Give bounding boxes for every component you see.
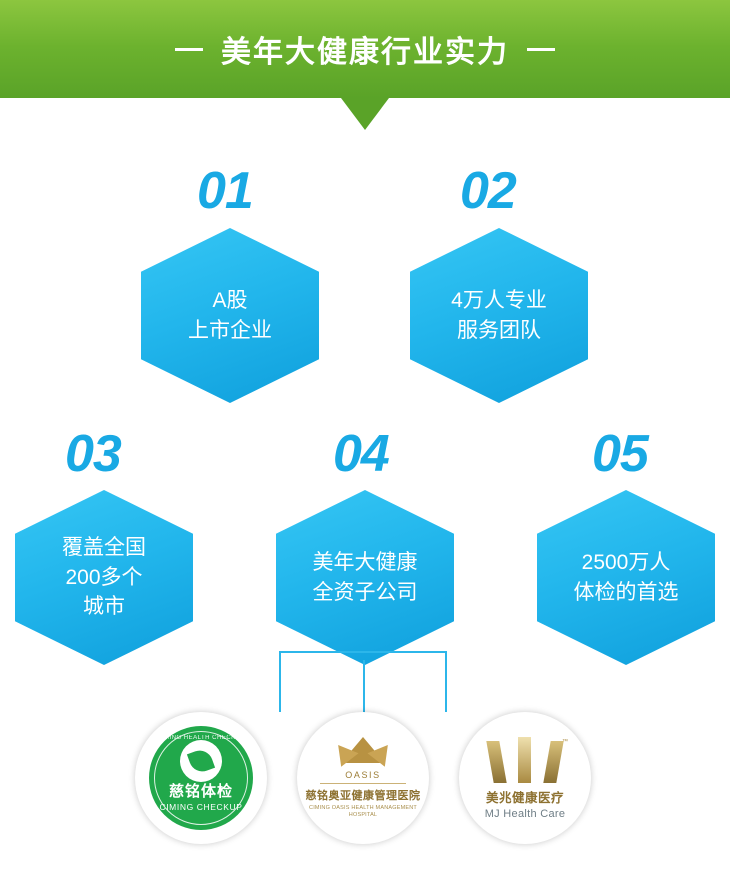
hex-card-02-text: 4万人专业 服务团队 (445, 286, 553, 346)
page-title: 美年大健康行业实力 (221, 27, 509, 71)
hex-card-02-line2: 服务团队 (451, 316, 547, 346)
connector-center-vertical (363, 660, 365, 716)
logo-mj-health-care[interactable]: ™ 美兆健康医疗 MJ Health Care (459, 712, 591, 844)
hex-card-04-line2: 全资子公司 (313, 578, 418, 608)
hex-card-03-text: 覆盖全国 200多个 城市 (56, 533, 152, 622)
hex-number-01: 01 (197, 165, 253, 217)
hex-number-03: 03 (65, 428, 121, 480)
logo-ciming-checkup[interactable]: CIMING HEALTH CHECKUP 慈铭体检 CIMING CHECKU… (135, 712, 267, 844)
hex-number-04: 04 (333, 428, 389, 480)
hex-card-04[interactable]: 美年大健康 全资子公司 (276, 490, 454, 665)
leaf-shape-icon (187, 747, 215, 775)
logo-ciming-oasis[interactable]: OASIS 慈铭奥亚健康管理医院 CIMING OASIS HEALTH MAN… (297, 712, 429, 844)
hex-card-05-text: 2500万人 体检的首选 (568, 548, 685, 608)
header-right-dash (527, 48, 555, 51)
hex-card-01-line2: 上市企业 (188, 316, 272, 346)
connector-horizontal (279, 651, 447, 653)
mj-trademark: ™ (562, 739, 568, 745)
logo-oasis-inner: OASIS 慈铭奥亚健康管理医院 CIMING OASIS HEALTH MAN… (297, 712, 429, 844)
ciming-en-name: CIMING CHECKUP (159, 802, 242, 812)
connector-left-vertical (279, 652, 281, 712)
ciming-cn-name: 慈铭体检 (169, 784, 233, 801)
hex-card-01-line1: A股 (188, 286, 272, 316)
mj-monogram-icon: ™ (488, 737, 562, 783)
mj-en-name: MJ Health Care (485, 808, 566, 820)
hex-card-02-line1: 4万人专业 (451, 286, 547, 316)
hex-card-04-line1: 美年大健康 (313, 548, 418, 578)
header-banner: 美年大健康行业实力 (0, 0, 730, 98)
hex-card-03-line3: 城市 (62, 592, 146, 622)
header-arrow-icon (341, 98, 389, 130)
mj-cn-name: 美兆健康医疗 (486, 787, 564, 806)
hex-card-05[interactable]: 2500万人 体检的首选 (537, 490, 715, 665)
hex-card-04-text: 美年大健康 全资子公司 (307, 548, 424, 608)
oasis-divider (320, 783, 406, 784)
connector-right-vertical (445, 652, 447, 712)
mj-stroke-center (518, 737, 531, 783)
hex-number-02: 02 (460, 165, 516, 217)
hex-card-03-line1: 覆盖全国 (62, 533, 146, 563)
lotus-icon (341, 737, 385, 763)
mj-stroke-left (486, 741, 506, 783)
ciming-arc-text: CIMING HEALTH CHECKUP (149, 735, 253, 741)
hex-card-03[interactable]: 覆盖全国 200多个 城市 (15, 490, 193, 665)
header-left-dash (175, 48, 203, 51)
hex-card-02[interactable]: 4万人专业 服务团队 (410, 228, 588, 403)
ciming-seal-icon: CIMING HEALTH CHECKUP 慈铭体检 CIMING CHECKU… (149, 726, 253, 830)
ciming-leaf-icon (180, 740, 222, 782)
hex-card-03-line2: 200多个 (62, 563, 146, 593)
hex-number-05: 05 (592, 428, 648, 480)
hex-card-01-text: A股 上市企业 (182, 286, 278, 346)
oasis-brand: OASIS (345, 770, 381, 780)
oasis-en-name: CIMING OASIS HEALTH MANAGEMENT HOSPITAL (297, 805, 429, 819)
hex-card-05-line2: 体检的首选 (574, 578, 679, 608)
mj-stroke-right (543, 741, 563, 783)
oasis-cn-name: 慈铭奥亚健康管理医院 (306, 787, 421, 803)
logo-mj-inner: ™ 美兆健康医疗 MJ Health Care (459, 712, 591, 844)
hex-card-05-line1: 2500万人 (574, 548, 679, 578)
logo-ciming-inner: CIMING HEALTH CHECKUP 慈铭体检 CIMING CHECKU… (135, 712, 267, 844)
header-inner: 美年大健康行业实力 (0, 0, 730, 98)
hex-card-01[interactable]: A股 上市企业 (141, 228, 319, 403)
